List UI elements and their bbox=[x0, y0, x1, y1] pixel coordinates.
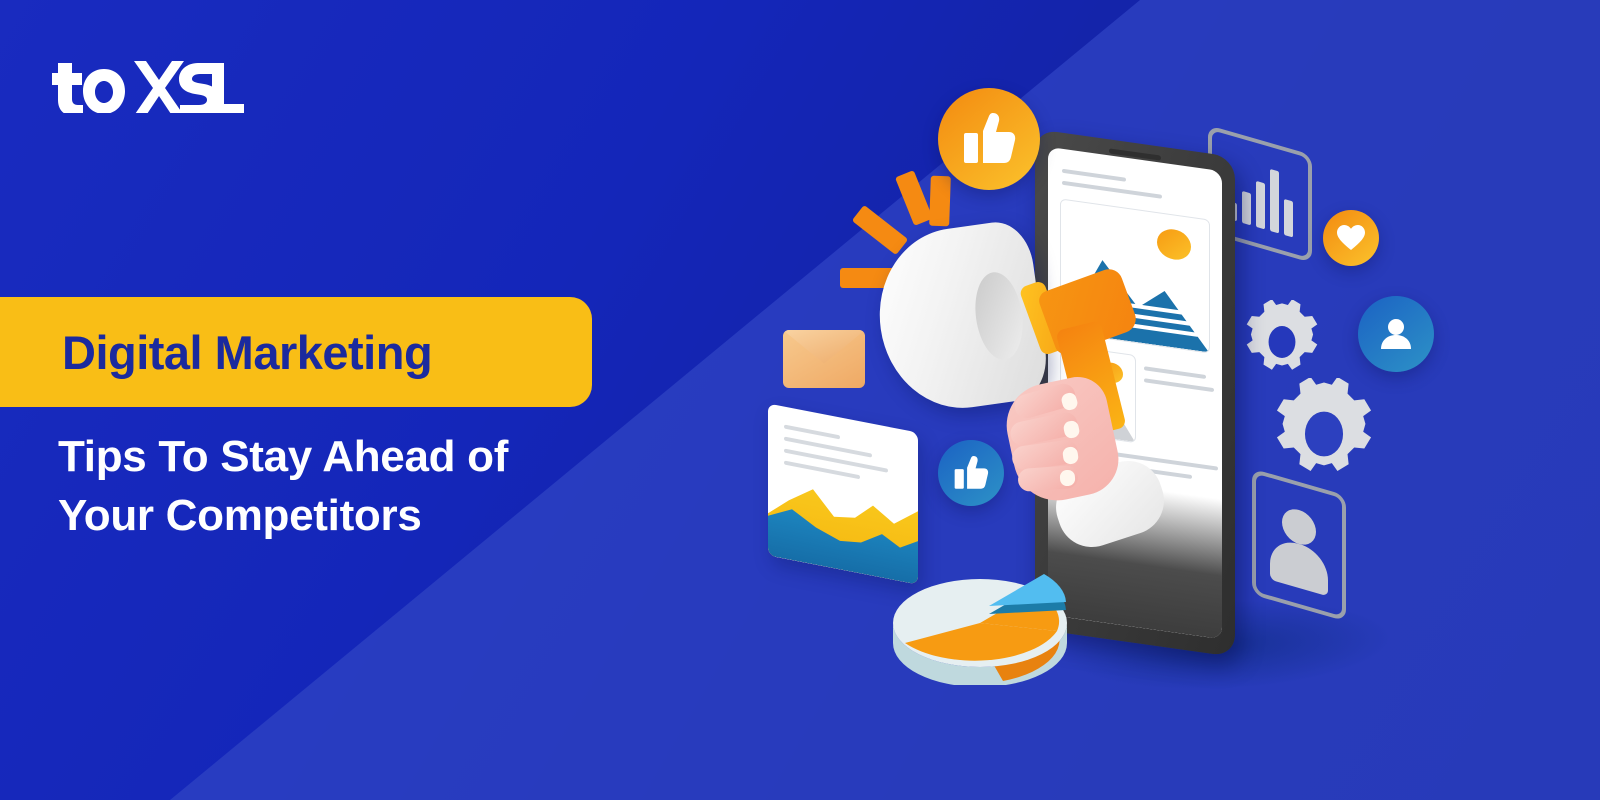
screen-sun-graphic bbox=[1157, 227, 1191, 262]
screen-caption-line bbox=[1119, 302, 1193, 316]
gear-small-icon bbox=[1240, 300, 1324, 384]
page-title: Tips To Stay Ahead of Your Competitors bbox=[58, 428, 698, 545]
pie-chart-svg bbox=[885, 565, 1075, 685]
badge-label: Digital Marketing bbox=[0, 325, 432, 380]
thumbs-up-icon bbox=[953, 456, 989, 490]
megaphone-mouth bbox=[970, 269, 1028, 363]
screen-thumb-sun bbox=[1101, 361, 1123, 384]
envelope-icon bbox=[783, 330, 865, 388]
fingernail bbox=[1060, 391, 1079, 411]
phone-speaker bbox=[1109, 148, 1161, 160]
screen-thumb-graphic bbox=[1061, 376, 1135, 442]
screen-text-line bbox=[1062, 181, 1162, 199]
marketing-banner: Digital Marketing Tips To Stay Ahead of … bbox=[0, 0, 1600, 800]
finger-1 bbox=[1012, 381, 1078, 421]
pie-slice-blue-exploded bbox=[989, 574, 1066, 614]
screen-caption-line bbox=[1119, 322, 1199, 337]
screen-mountain-graphic bbox=[1061, 240, 1209, 353]
bar-chart-card bbox=[1208, 125, 1312, 263]
phone-body bbox=[1035, 129, 1235, 657]
thumbs-up-orange-bubble bbox=[938, 88, 1040, 190]
megaphone-handle bbox=[1036, 265, 1139, 356]
screen-text-line bbox=[1144, 378, 1214, 392]
smartphone bbox=[1035, 129, 1235, 657]
card-text-line bbox=[784, 425, 840, 440]
megaphone-ring bbox=[1018, 280, 1067, 357]
area-series-blue bbox=[768, 493, 918, 584]
sound-ray-1 bbox=[840, 268, 896, 288]
thumbs-up-icon bbox=[962, 113, 1016, 165]
toxsl-logo[interactable] bbox=[52, 52, 252, 112]
envelope-flap bbox=[783, 330, 865, 388]
thumbs-up-blue-bubble bbox=[938, 440, 1004, 506]
category-badge: Digital Marketing bbox=[0, 297, 592, 407]
sound-ray-4 bbox=[929, 176, 951, 227]
fingernail bbox=[1062, 446, 1079, 465]
card-text-line bbox=[784, 449, 888, 473]
user-icon bbox=[1377, 315, 1415, 353]
finger-2 bbox=[1008, 410, 1080, 448]
avatar-head-icon bbox=[1282, 505, 1316, 549]
finger-4 bbox=[1017, 465, 1078, 492]
fingernail bbox=[1062, 420, 1080, 440]
screen-text-line bbox=[1062, 457, 1192, 479]
bar-3 bbox=[1256, 181, 1265, 230]
card-text-line bbox=[784, 437, 872, 458]
screen-text-line bbox=[1062, 169, 1126, 182]
bar-5 bbox=[1284, 199, 1293, 238]
megaphone bbox=[880, 220, 1120, 430]
sound-rays bbox=[836, 170, 976, 310]
user-avatar-bubble bbox=[1358, 296, 1434, 372]
headline-line-1: Tips To Stay Ahead of bbox=[58, 428, 698, 487]
pie-slice-light bbox=[893, 579, 1067, 667]
screen-caption-line bbox=[1119, 312, 1207, 328]
shirt-sleeve bbox=[1047, 452, 1173, 556]
avatar-card bbox=[1252, 469, 1346, 622]
area-chart-body bbox=[768, 403, 918, 584]
gear-large-icon bbox=[1268, 378, 1380, 490]
screen-image-card bbox=[1060, 198, 1210, 353]
area-series-yellow bbox=[768, 477, 918, 584]
heart-icon-bubble bbox=[1323, 210, 1379, 266]
pie-slice-orange-2 bbox=[980, 591, 1059, 631]
sound-ray-3 bbox=[895, 170, 933, 226]
bar-4 bbox=[1270, 169, 1279, 234]
sound-ray-2 bbox=[852, 205, 908, 255]
screen-shadow bbox=[1048, 475, 1222, 639]
area-chart-card bbox=[768, 403, 918, 584]
pie-depth-orange bbox=[980, 623, 1060, 681]
pie-chart-3d bbox=[885, 565, 1075, 685]
screen-text-line bbox=[1144, 366, 1206, 379]
hand-holding-megaphone bbox=[1000, 355, 1140, 535]
bar-2 bbox=[1242, 191, 1251, 226]
pie-depth-light bbox=[893, 623, 1067, 685]
card-text-line bbox=[784, 461, 860, 480]
megaphone-grip bbox=[1055, 320, 1126, 438]
avatar-body-icon bbox=[1270, 536, 1328, 597]
finger-3 bbox=[1011, 439, 1080, 472]
envelope-body bbox=[783, 330, 865, 388]
palm bbox=[999, 371, 1125, 508]
screen-thumb-card bbox=[1060, 344, 1136, 443]
megaphone-cone bbox=[868, 218, 1051, 419]
headline-line-2: Your Competitors bbox=[58, 487, 698, 546]
logo-icon bbox=[52, 51, 252, 113]
heart-icon bbox=[1337, 225, 1365, 251]
floor-shadow bbox=[1032, 600, 1418, 690]
screen-text-line bbox=[1062, 445, 1218, 471]
fingernail bbox=[1059, 469, 1075, 486]
bar-1 bbox=[1228, 201, 1237, 222]
pie-slice-orange bbox=[905, 623, 1057, 661]
phone-screen bbox=[1048, 147, 1222, 639]
